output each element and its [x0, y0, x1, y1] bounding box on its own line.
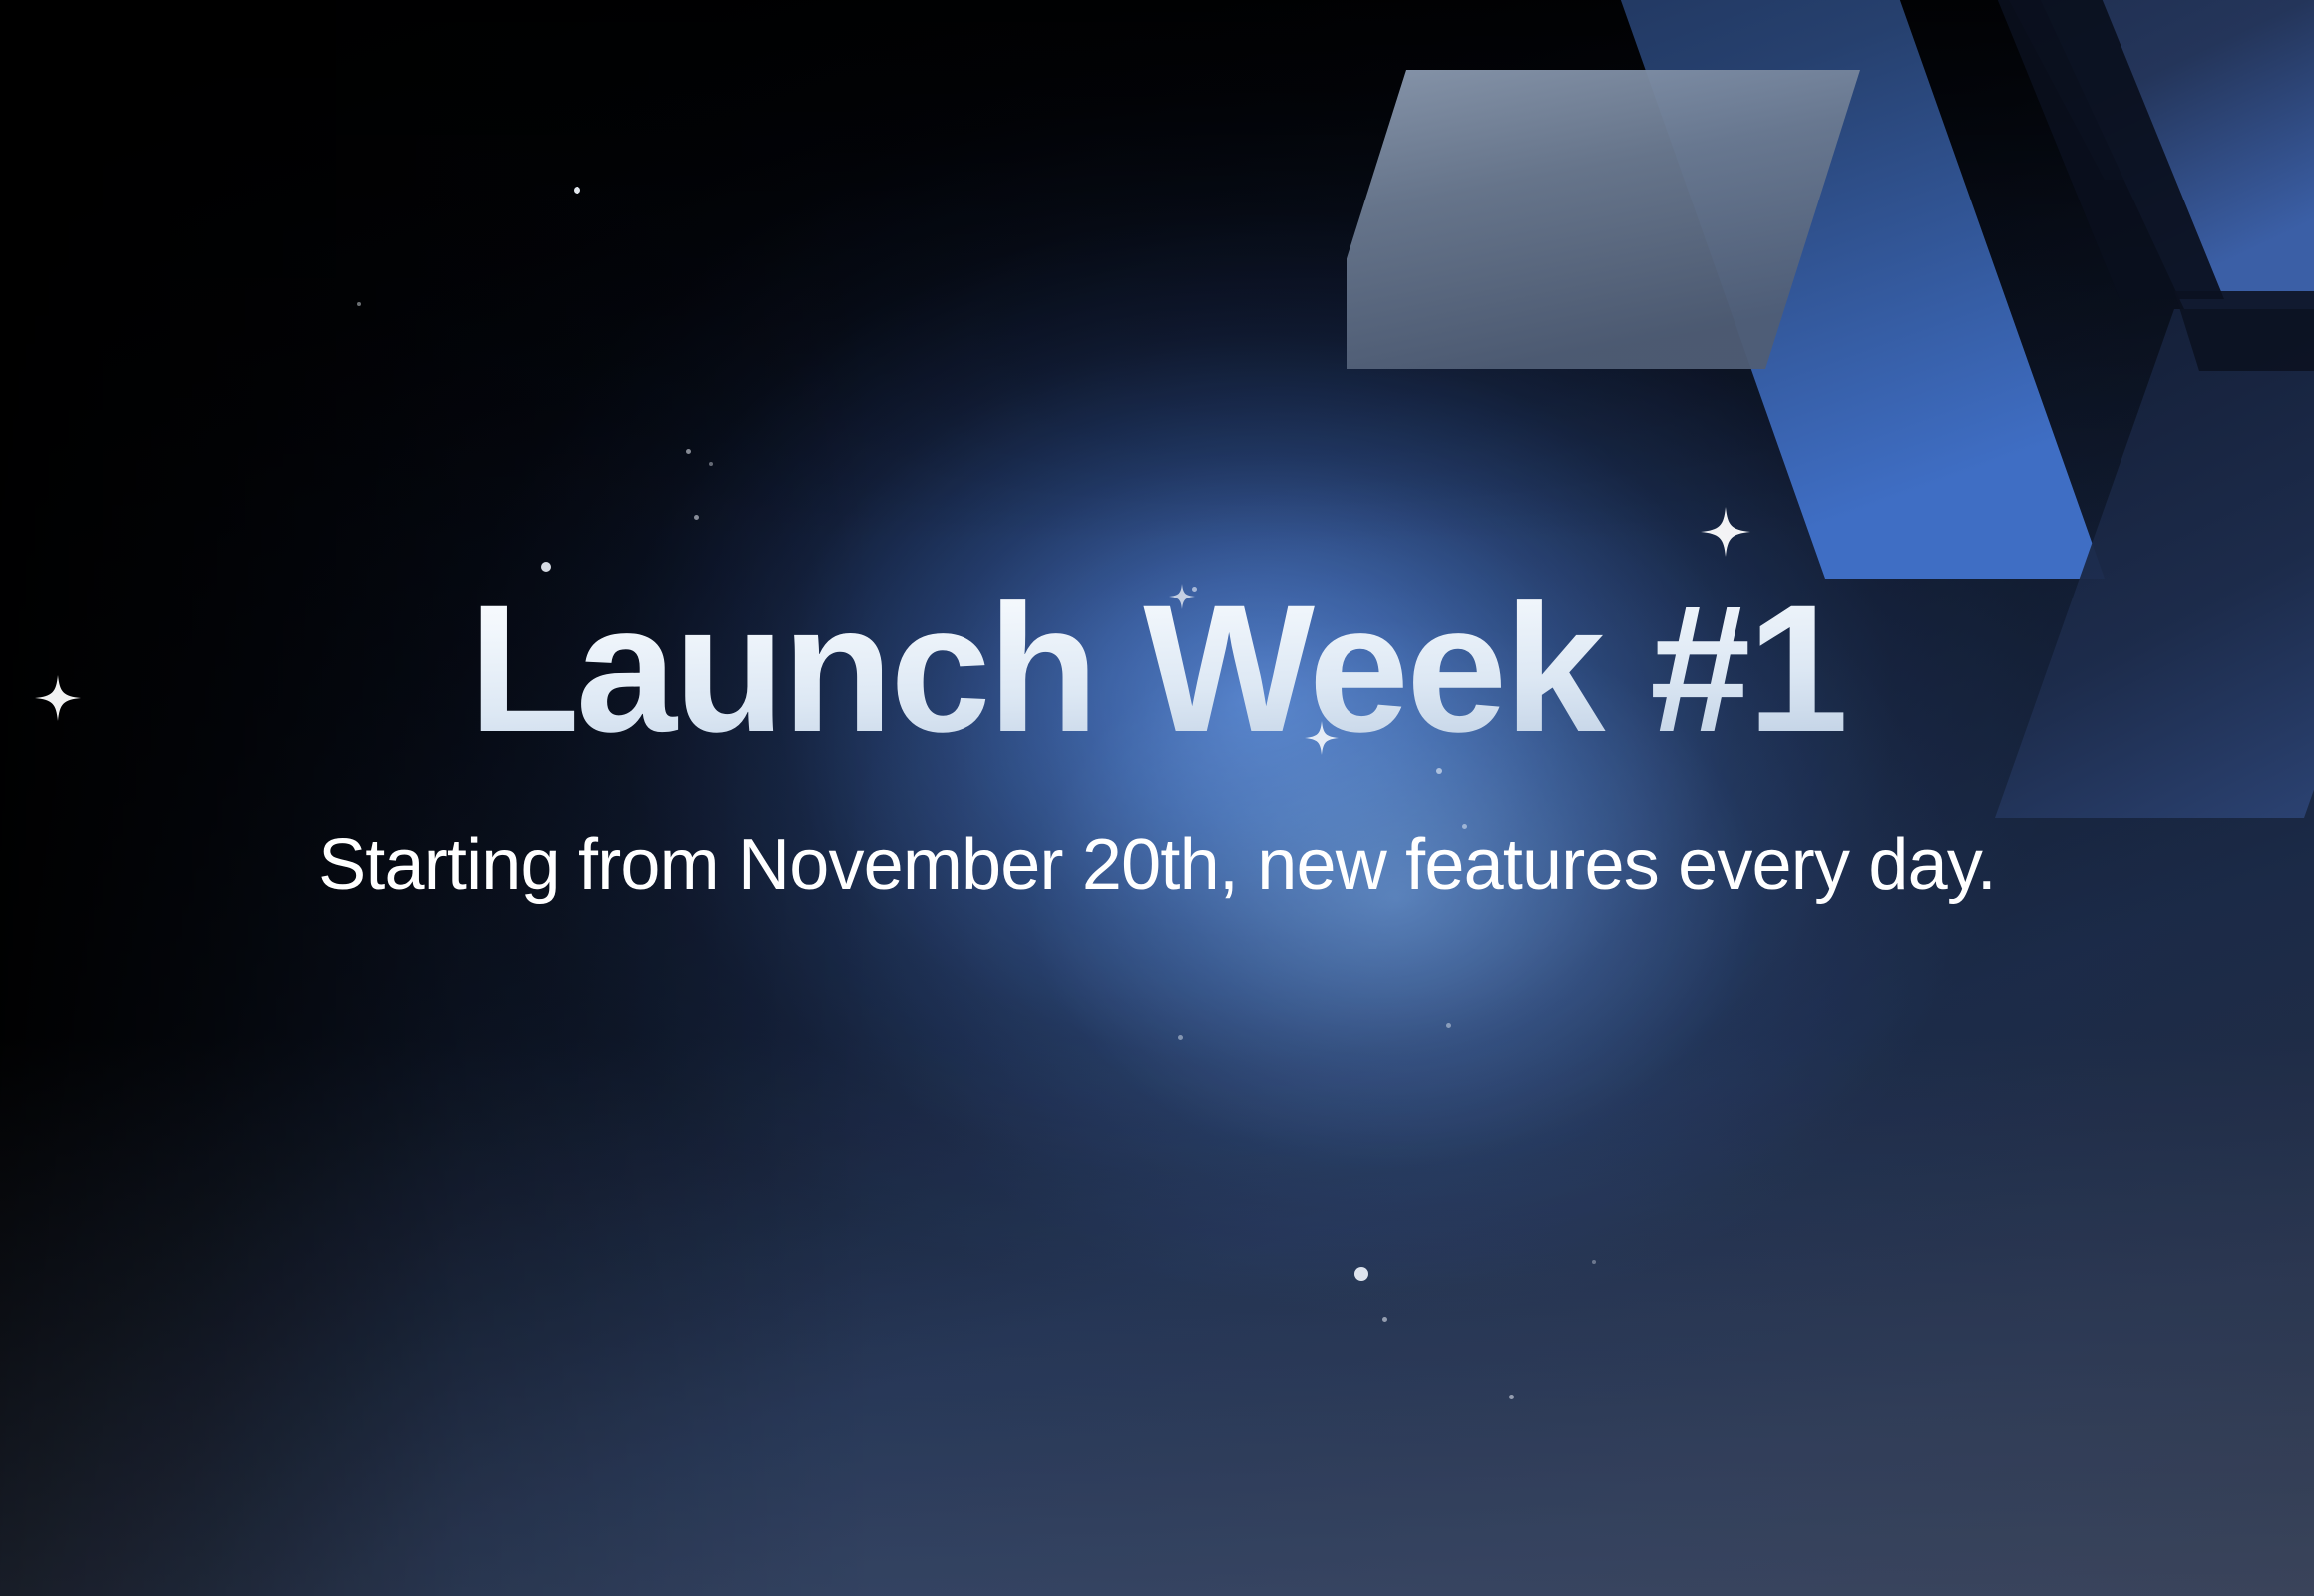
- launch-week-hero-banner: Launch Week #1 Starting from November 20…: [0, 0, 2314, 1596]
- hero-subtitle: Starting from November 20th, new feature…: [0, 824, 2314, 906]
- background-bottom-lift: [0, 1037, 2314, 1596]
- page-title: Launch Week #1: [0, 577, 2314, 762]
